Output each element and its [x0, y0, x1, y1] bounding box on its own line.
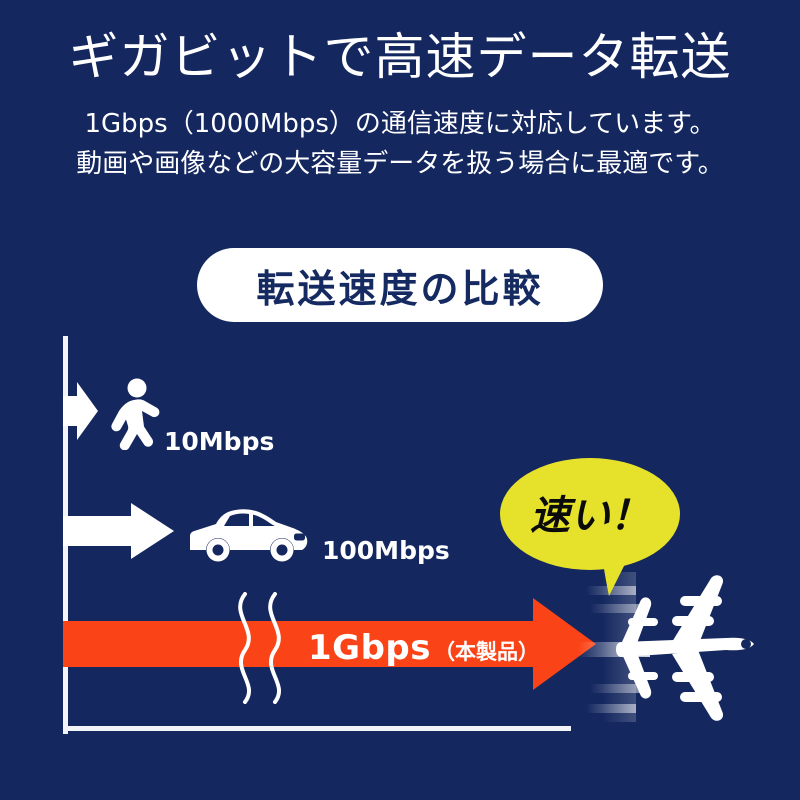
section-badge-label: 転送速度の比較: [256, 258, 543, 313]
bar-label-1gbps-suffix: （本製品）: [434, 636, 539, 666]
bar-label-10mbps: 10Mbps: [164, 427, 274, 456]
subtitle-line-1: 1Gbps（1000Mbps）の通信速度に対応しています。: [0, 108, 800, 140]
page-title: ギガビットで高速データ転送: [0, 28, 800, 86]
bar-label-1gbps-value: 1Gbps: [308, 628, 431, 668]
car-icon: [186, 508, 310, 567]
section-badge: 転送速度の比較: [197, 248, 603, 322]
break-mark-squiggle-icon: [215, 592, 301, 709]
bar-label-1gbps: 1Gbps （本製品）: [308, 628, 539, 668]
promo-banner: ギガビットで高速データ転送 1Gbps（1000Mbps）の通信速度に対応してい…: [0, 0, 800, 800]
speed-comparison-chart: 10Mbps 100Mbps: [0, 330, 800, 760]
chart-x-axis: [63, 726, 571, 731]
callout-bubble: 速い！: [500, 458, 680, 570]
walking-person-icon: [104, 378, 162, 455]
bar-100mbps-arrow: [63, 503, 175, 564]
subtitle-line-2: 動画や画像などの大容量データを扱う場合に最適です。: [0, 148, 800, 180]
bar-10mbps-arrow: [63, 382, 99, 445]
callout-bubble-tail: [600, 552, 634, 598]
callout-bubble-text: 速い！: [530, 483, 650, 541]
bar-label-100mbps: 100Mbps: [322, 536, 450, 565]
